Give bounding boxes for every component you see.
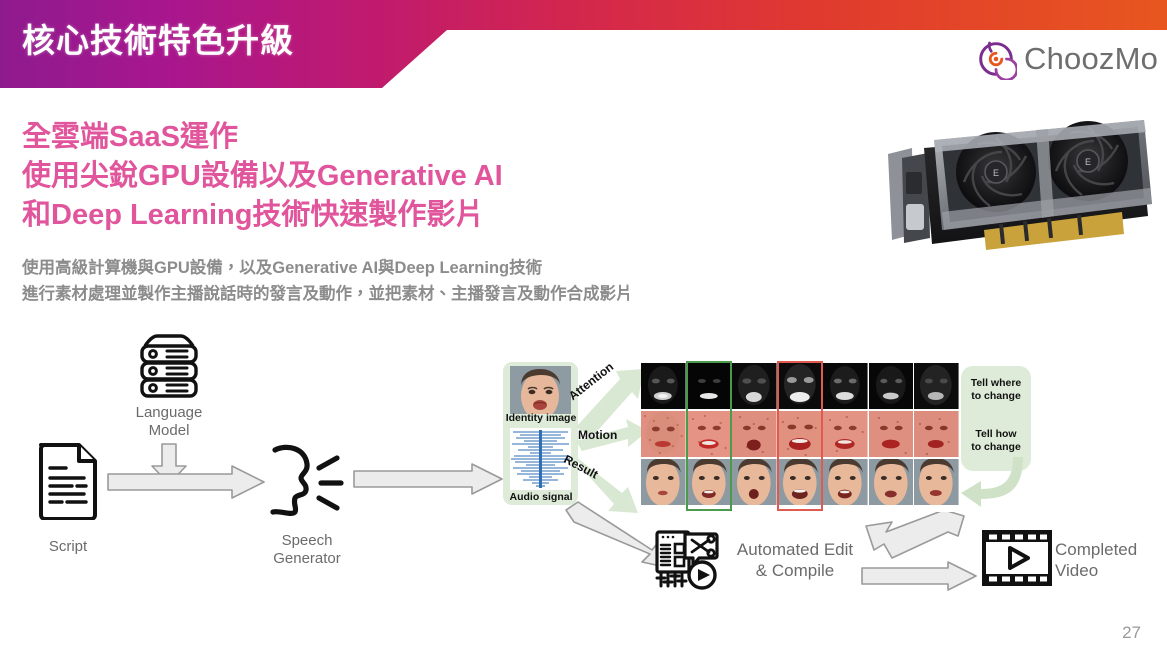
subtext: 使用高級計算機與GPU設備，以及Generative AI與Deep Learn… — [22, 255, 633, 308]
grid-cell — [778, 363, 823, 409]
speech-generator-label: Speech Generator — [255, 532, 359, 567]
grid-cell — [869, 363, 914, 409]
grid-cell — [641, 411, 686, 457]
grid-cell — [641, 363, 686, 409]
graphics-card-photo: E E — [872, 112, 1160, 262]
grid-cell — [914, 363, 959, 409]
svg-text:E: E — [993, 168, 999, 178]
automated-edit-label: Automated Edit & Compile — [729, 539, 861, 582]
grid-cell — [732, 363, 777, 409]
slide: 核心技術特色升級 ChoozMo 全雲端SaaS運作 使用尖銳GPU設備以及Ge… — [0, 0, 1167, 655]
face-grid — [641, 363, 959, 507]
grid-cell — [823, 363, 868, 409]
audio-signal-waveform — [510, 428, 571, 490]
film-strip-play-icon — [981, 529, 1053, 587]
grid-cell — [778, 411, 823, 457]
page-number: 27 — [1122, 623, 1141, 643]
video-editor-icon — [655, 528, 719, 590]
arrow-editor-to-video — [860, 560, 978, 592]
grid-cell — [732, 411, 777, 457]
grid-cell — [687, 459, 732, 505]
arrow-grid-to-editor — [862, 512, 968, 566]
face-grid-row-result — [641, 459, 959, 505]
callout-curved-arrow — [955, 455, 1035, 515]
arrow-speech-to-model — [352, 462, 504, 496]
svg-text:E: E — [1085, 157, 1091, 167]
speaking-head-icon — [265, 438, 345, 520]
face-grid-row-attention — [641, 363, 959, 409]
face-grid-row-motion — [641, 411, 959, 457]
spiral-icon — [975, 38, 1017, 80]
grid-cell — [869, 411, 914, 457]
grid-cell — [687, 411, 732, 457]
identity-image-caption: Identity image — [500, 412, 582, 424]
grid-cell — [732, 459, 777, 505]
grid-cell — [914, 459, 959, 505]
identity-image — [510, 366, 571, 414]
headline: 全雲端SaaS運作 使用尖銳GPU設備以及Generative AI 和Deep… — [22, 118, 503, 235]
logo-text: ChoozMo — [1024, 41, 1158, 77]
grid-cell — [914, 411, 959, 457]
grid-cell — [823, 411, 868, 457]
grid-cell — [778, 459, 823, 505]
arrow-script-to-speech — [106, 464, 266, 500]
document-icon — [36, 440, 100, 520]
server-stack-icon — [133, 332, 205, 402]
callout-tell-how: Tell how to change — [957, 428, 1035, 453]
grid-cell — [823, 459, 868, 505]
grid-cell — [687, 363, 732, 409]
grid-cell — [869, 459, 914, 505]
completed-video-label: Completed Video — [1055, 539, 1167, 582]
page-title: 核心技術特色升級 — [22, 14, 294, 62]
script-label: Script — [18, 538, 118, 556]
grid-cell — [641, 459, 686, 505]
language-model-label: Language Model — [119, 404, 219, 439]
flow-label-motion: Motion — [578, 428, 617, 442]
callout-tell-where: Tell where to change — [957, 377, 1035, 402]
brand-logo: ChoozMo — [975, 38, 1158, 80]
